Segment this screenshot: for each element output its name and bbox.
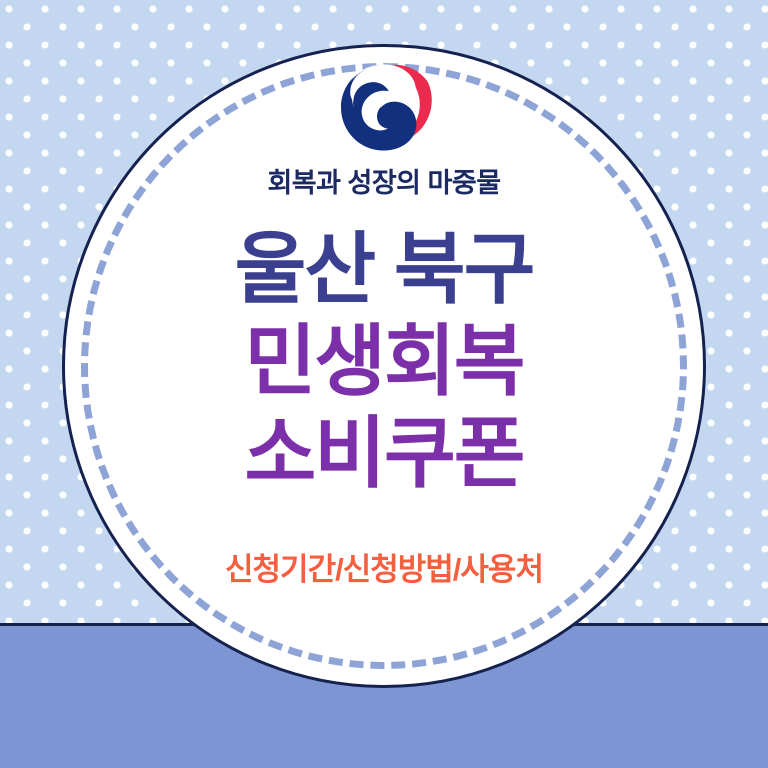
headline-line-program: 민생회복 — [62, 322, 706, 400]
headline-line-region: 울산 북구 — [62, 230, 706, 308]
subtitle-info-items: 신청기간/신청방법/사용처 — [62, 544, 706, 589]
headline-line-coupon: 소비쿠폰 — [62, 414, 706, 492]
government-slogan: 회복과 성장의 마중물 — [62, 161, 706, 200]
white-circle-panel: 회복과 성장의 마중물 울산 북구 민생회복 소비쿠폰 신청기간/신청방법/사용… — [62, 44, 706, 688]
circle-content: 회복과 성장의 마중물 울산 북구 민생회복 소비쿠폰 신청기간/신청방법/사용… — [62, 44, 706, 688]
korea-government-taegeuk-emblem-icon — [332, 62, 436, 156]
poster-canvas: 회복과 성장의 마중물 울산 북구 민생회복 소비쿠폰 신청기간/신청방법/사용… — [0, 0, 768, 768]
